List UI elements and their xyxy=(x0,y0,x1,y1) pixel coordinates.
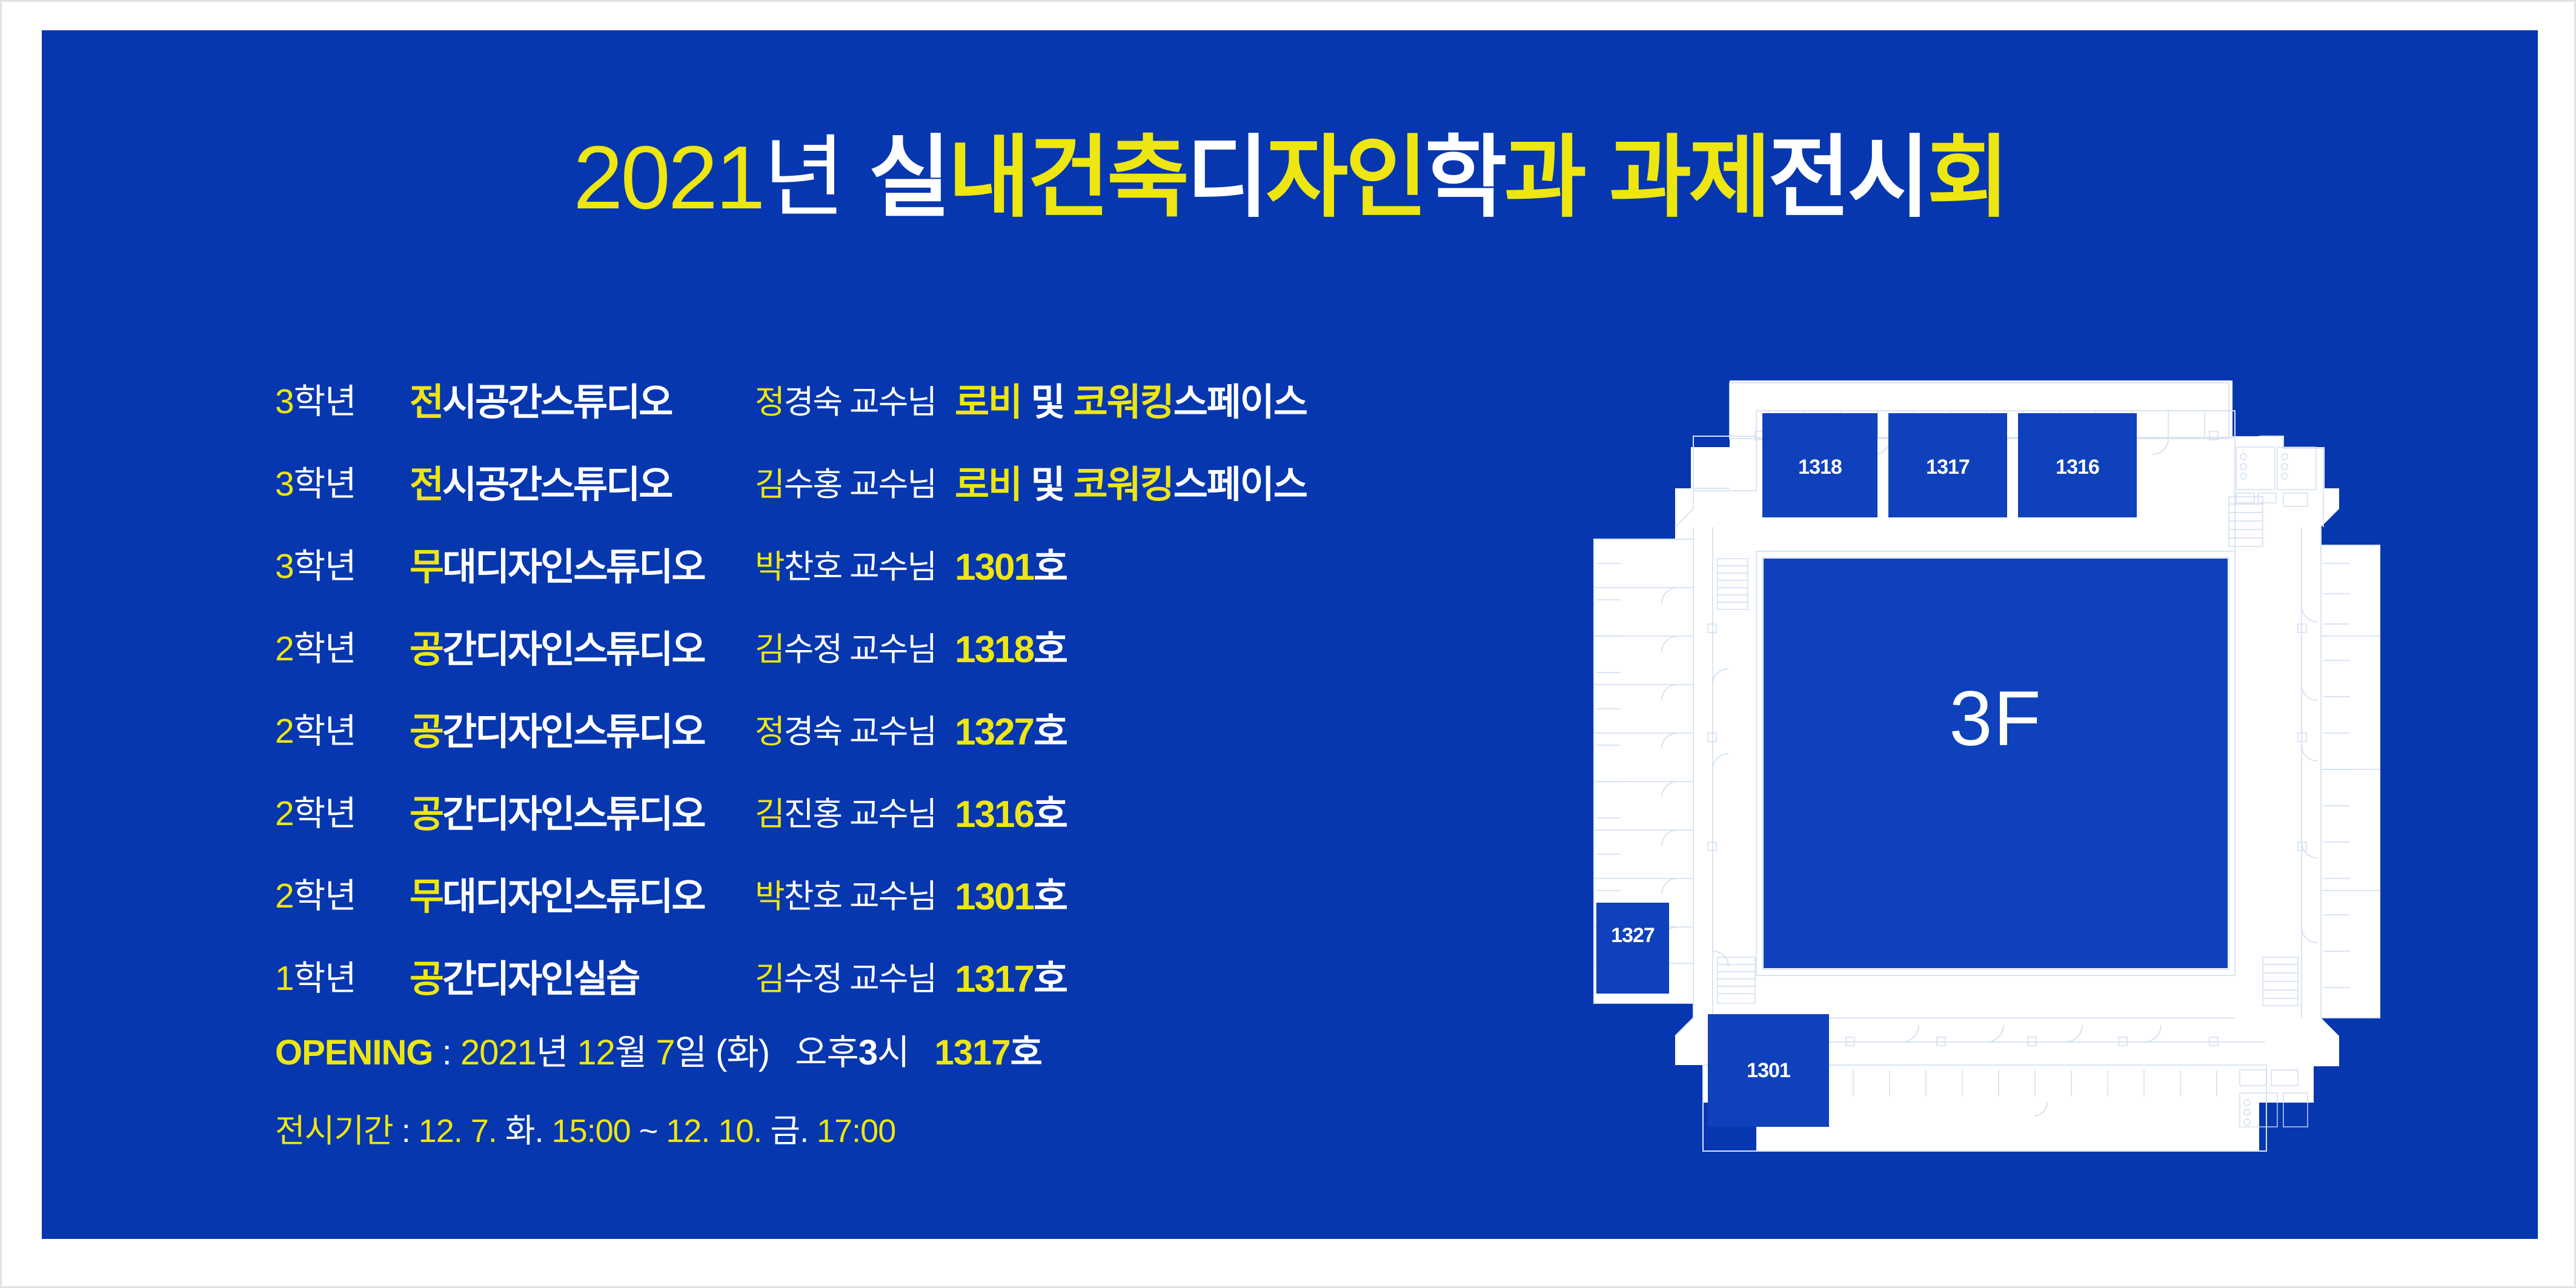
period-line: 전시기간 : 12. 7. 화. 15:00 ~ 12. 10. 금. 17:0… xyxy=(275,1104,1042,1152)
period-start-date: 12. 7. xyxy=(419,1113,497,1149)
row-location: 1301호 xyxy=(955,866,1067,920)
grade-suffix: 학년 xyxy=(294,959,356,998)
row-location: 1316호 xyxy=(955,783,1067,838)
course-tail: 간디자인스튜디오 xyxy=(442,629,704,671)
opening-separator: : xyxy=(433,1033,460,1072)
course-tail: 간디자인실습 xyxy=(442,958,639,1000)
course-head: 전 xyxy=(410,382,442,423)
period-tilde: ~ xyxy=(631,1113,666,1149)
opening-weekday: (화) xyxy=(715,1033,769,1072)
row-course: 공간디자인스튜디오 xyxy=(410,701,755,755)
opening-year-suffix: 년 xyxy=(536,1033,577,1072)
grade-suffix: 학년 xyxy=(294,712,356,751)
location-mid: 및 xyxy=(1021,464,1074,506)
opening-time-prefix: 오후 xyxy=(795,1033,858,1072)
row-grade: 2학년 xyxy=(275,621,410,671)
opening-year: 2021 xyxy=(460,1033,536,1072)
opening-day: 7 xyxy=(656,1033,674,1072)
room-1327: 1327 xyxy=(1596,903,1669,994)
title-event-c: 회 xyxy=(1927,128,2007,228)
location-tail: 호 xyxy=(1034,711,1067,753)
row-professor: 박찬호 교수님 xyxy=(755,540,955,588)
professor-tail: 수정 교수님 xyxy=(784,961,936,997)
period-end-day: 금. xyxy=(762,1113,817,1149)
row-location: 로비 및 코워킹스페이스 xyxy=(955,371,1307,426)
row-grade: 3학년 xyxy=(275,456,410,506)
row-grade: 1학년 xyxy=(275,951,410,1000)
row-professor: 김수정 교수님 xyxy=(755,622,955,670)
row-location: 1317호 xyxy=(955,948,1067,1003)
location-tail: 호 xyxy=(1034,629,1067,671)
location-head: 로비 xyxy=(955,382,1021,423)
course-tail: 시공간스튜디오 xyxy=(442,464,671,506)
list-item: 3학년 전시공간스튜디오 김수홍 교수님 로비 및 코워킹스페이스 xyxy=(275,440,1335,522)
list-item: 3학년 전시공간스튜디오 정경숙 교수님 로비 및 코워킹스페이스 xyxy=(275,357,1335,440)
page-title: 2021년실내건축디자인학과과제전시회 xyxy=(42,133,2538,223)
professor-tail: 수홍 교수님 xyxy=(784,466,936,503)
opening-line: OPENING : 2021년 12월 7일 (화)오후3시1317호 xyxy=(275,1024,1042,1075)
period-end-time: 17:00 xyxy=(817,1113,895,1149)
footer-info: OPENING : 2021년 12월 7일 (화)오후3시1317호 전시기간… xyxy=(275,1024,1042,1152)
row-professor: 정경숙 교수님 xyxy=(755,375,955,423)
professor-tail: 찬호 교수님 xyxy=(784,878,936,915)
course-head: 공 xyxy=(410,958,442,1000)
professor-tail: 진홍 교수님 xyxy=(784,796,936,832)
location-mid: 및 xyxy=(1021,382,1074,423)
row-course: 전시공간스튜디오 xyxy=(410,454,755,508)
location-head: 1317 xyxy=(955,958,1034,1000)
title-year-suffix: 년 xyxy=(763,128,843,228)
period-start-time: 15:00 xyxy=(552,1113,631,1149)
professor-tail: 경숙 교수님 xyxy=(784,384,936,420)
course-head: 무 xyxy=(410,546,442,588)
exhibition-list: 3학년 전시공간스튜디오 정경숙 교수님 로비 및 코워킹스페이스 3학년 전시… xyxy=(275,357,1335,1017)
title-event-b: 전시 xyxy=(1768,128,1927,228)
list-item: 2학년 공간디자인스튜디오 김진홍 교수님 1316호 xyxy=(275,769,1335,852)
course-head: 공 xyxy=(410,711,442,753)
row-professor: 김수홍 교수님 xyxy=(755,457,955,505)
grade-number: 2 xyxy=(275,794,294,833)
opening-day-suffix: 일 xyxy=(675,1033,715,1072)
location-tail: 호 xyxy=(1034,794,1067,835)
grade-suffix: 학년 xyxy=(294,877,356,915)
room-1316-label: 1316 xyxy=(2056,456,2099,479)
grade-number: 3 xyxy=(275,382,294,421)
floorplan: .wall{fill:none;stroke:#dbe4f2;stroke-wi… xyxy=(1562,345,2380,1157)
row-professor: 김진홍 교수님 xyxy=(755,787,955,835)
room-1318-label: 1318 xyxy=(1798,456,1842,479)
room-1301-label: 1301 xyxy=(1747,1059,1790,1082)
grade-number: 2 xyxy=(275,629,294,668)
location-head: 1301 xyxy=(955,546,1034,588)
row-grade: 3학년 xyxy=(275,539,410,588)
room-1317: 1317 xyxy=(1888,413,2007,517)
location-tail: 호 xyxy=(1034,876,1067,918)
period-start-day: 화. xyxy=(497,1113,552,1149)
professor-head: 정 xyxy=(755,384,784,420)
title-dept-d: 자인 xyxy=(1266,128,1424,228)
course-tail: 시공간스튜디오 xyxy=(442,382,671,423)
grade-suffix: 학년 xyxy=(294,465,356,503)
row-grade: 2학년 xyxy=(275,786,410,835)
professor-head: 김 xyxy=(755,796,784,832)
location-head: 로비 xyxy=(955,464,1021,506)
grade-suffix: 학년 xyxy=(294,382,356,421)
grade-suffix: 학년 xyxy=(294,794,356,833)
opening-month: 12 xyxy=(577,1033,615,1072)
room-1317-label: 1317 xyxy=(1926,456,1970,479)
location-head: 1318 xyxy=(955,629,1034,671)
list-item: 2학년 공간디자인스튜디오 김수정 교수님 1318호 xyxy=(275,605,1335,687)
grade-number: 3 xyxy=(275,547,294,586)
professor-head: 정 xyxy=(755,714,784,750)
row-professor: 정경숙 교수님 xyxy=(755,705,955,752)
opening-month-suffix: 월 xyxy=(615,1033,656,1072)
poster-canvas: 2021년실내건축디자인학과과제전시회 3학년 전시공간스튜디오 정경숙 교수님… xyxy=(42,30,2538,1239)
row-professor: 박찬호 교수님 xyxy=(755,869,955,917)
room-1327-label: 1327 xyxy=(1611,924,1655,947)
professor-tail: 경숙 교수님 xyxy=(784,714,936,750)
professor-head: 박 xyxy=(755,878,784,915)
row-grade: 3학년 xyxy=(275,374,410,423)
professor-head: 김 xyxy=(755,466,784,503)
title-dept-b: 내건축 xyxy=(948,128,1186,228)
row-course: 무대디자인스튜디오 xyxy=(410,536,755,591)
title-year: 2021 xyxy=(573,128,763,228)
room-1316: 1316 xyxy=(2018,413,2137,517)
title-dept-f: 과 xyxy=(1504,128,1584,228)
location-tail: 호 xyxy=(1034,958,1067,1000)
opening-time-suffix: 시 xyxy=(877,1033,909,1072)
professor-head: 박 xyxy=(755,549,784,585)
row-course: 무대디자인스튜디오 xyxy=(410,866,755,920)
professor-tail: 찬호 교수님 xyxy=(784,549,936,585)
row-location: 1301호 xyxy=(955,536,1067,591)
professor-head: 김 xyxy=(755,961,784,997)
title-dept-e: 학 xyxy=(1425,128,1504,228)
grade-number: 3 xyxy=(275,465,294,503)
room-1301: 1301 xyxy=(1708,1014,1829,1127)
room-1318: 1318 xyxy=(1762,413,1877,517)
course-head: 전 xyxy=(410,464,442,506)
list-item: 3학년 무대디자인스튜디오 박찬호 교수님 1301호 xyxy=(275,522,1335,605)
row-professor: 김수정 교수님 xyxy=(755,952,955,1000)
period-label: 전시기간 xyxy=(275,1113,393,1149)
course-tail: 대디자인스튜디오 xyxy=(442,876,704,918)
course-tail: 간디자인스튜디오 xyxy=(442,711,704,753)
grade-suffix: 학년 xyxy=(294,629,356,668)
location-tail: 코워킹 xyxy=(1074,464,1173,506)
course-tail: 간디자인스튜디오 xyxy=(442,794,704,835)
row-grade: 2학년 xyxy=(275,703,410,753)
location-tail2: 스페이스 xyxy=(1173,382,1307,423)
list-item: 2학년 공간디자인스튜디오 정경숙 교수님 1327호 xyxy=(275,687,1335,769)
location-head: 1327 xyxy=(955,711,1034,753)
row-course: 전시공간스튜디오 xyxy=(410,371,755,426)
title-event-a: 과제 xyxy=(1609,128,1768,228)
row-course: 공간디자인스튜디오 xyxy=(410,619,755,673)
opening-room-suffix: 호 xyxy=(1011,1033,1042,1072)
grade-number: 2 xyxy=(275,712,294,751)
opening-room-number: 1317 xyxy=(934,1033,1010,1072)
row-grade: 2학년 xyxy=(275,868,410,918)
period-end-date: 12. 10. xyxy=(666,1113,762,1149)
row-location: 1318호 xyxy=(955,619,1067,673)
professor-head: 김 xyxy=(755,631,784,668)
grade-suffix: 학년 xyxy=(294,547,356,586)
row-course: 공간디자인실습 xyxy=(410,948,755,1003)
location-head: 1316 xyxy=(955,794,1034,835)
course-tail: 대디자인스튜디오 xyxy=(442,546,704,588)
professor-tail: 수정 교수님 xyxy=(784,631,936,668)
location-tail: 호 xyxy=(1034,546,1067,588)
opening-time-number: 3 xyxy=(858,1033,877,1072)
location-tail2: 스페이스 xyxy=(1173,464,1307,506)
location-head: 1301 xyxy=(955,876,1034,918)
course-head: 무 xyxy=(410,876,442,918)
course-head: 공 xyxy=(410,629,442,671)
grade-number: 1 xyxy=(275,959,294,998)
atrium-3f xyxy=(1764,559,2228,968)
list-item: 1학년 공간디자인실습 김수정 교수님 1317호 xyxy=(275,934,1335,1017)
row-location: 1327호 xyxy=(955,701,1067,755)
opening-label: OPENING xyxy=(275,1033,433,1072)
list-item: 2학년 무대디자인스튜디오 박찬호 교수님 1301호 xyxy=(275,852,1335,934)
period-separator: : xyxy=(393,1113,419,1149)
floor-label: 3F xyxy=(1949,676,2042,762)
title-dept-a: 실 xyxy=(869,128,948,228)
grade-number: 2 xyxy=(275,877,294,915)
row-course: 공간디자인스튜디오 xyxy=(410,783,755,838)
course-head: 공 xyxy=(410,794,442,835)
row-location: 로비 및 코워킹스페이스 xyxy=(955,454,1307,508)
poster-page: 2021년실내건축디자인학과과제전시회 3학년 전시공간스튜디오 정경숙 교수님… xyxy=(0,0,2576,1288)
title-dept-c: 디 xyxy=(1186,128,1266,228)
location-tail: 코워킹 xyxy=(1074,382,1173,423)
